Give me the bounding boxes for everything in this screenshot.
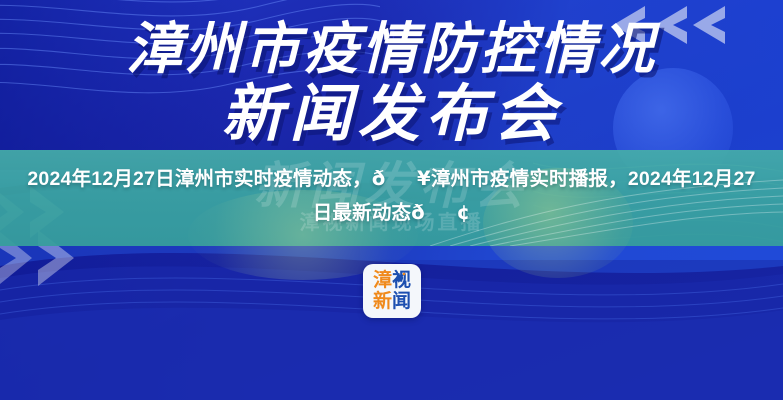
logo-char-4: 闻 — [392, 292, 411, 311]
zhangzhou-tv-news-logo: 漳视 新闻 — [363, 264, 421, 318]
chevron-left-group-icon — [611, 4, 727, 46]
megaphone-emoji-mojibake: ð¢ — [411, 201, 470, 224]
news-poster-image: 漳州市疫情防控情况 新闻发布会 新闻发布会 漳视新闻现场直播 2024年12月2… — [0, 0, 783, 400]
logo-row-2: 新闻 — [373, 292, 411, 311]
fire-emoji-mojibake: ð¥ — [372, 167, 431, 190]
wave-lines-top-left-icon — [0, 0, 380, 160]
satellite-icon — [394, 272, 406, 284]
logo-char-1: 漳 — [373, 271, 392, 290]
logo-char-3: 新 — [373, 292, 392, 311]
caption-text: 2024年12月27日漳州市实时疫情动态，ð¥漳州市疫情实时播报，2024年… — [26, 162, 757, 230]
caption-segment-1: 2024年12月27日漳州市实时疫情动态， — [27, 168, 371, 190]
